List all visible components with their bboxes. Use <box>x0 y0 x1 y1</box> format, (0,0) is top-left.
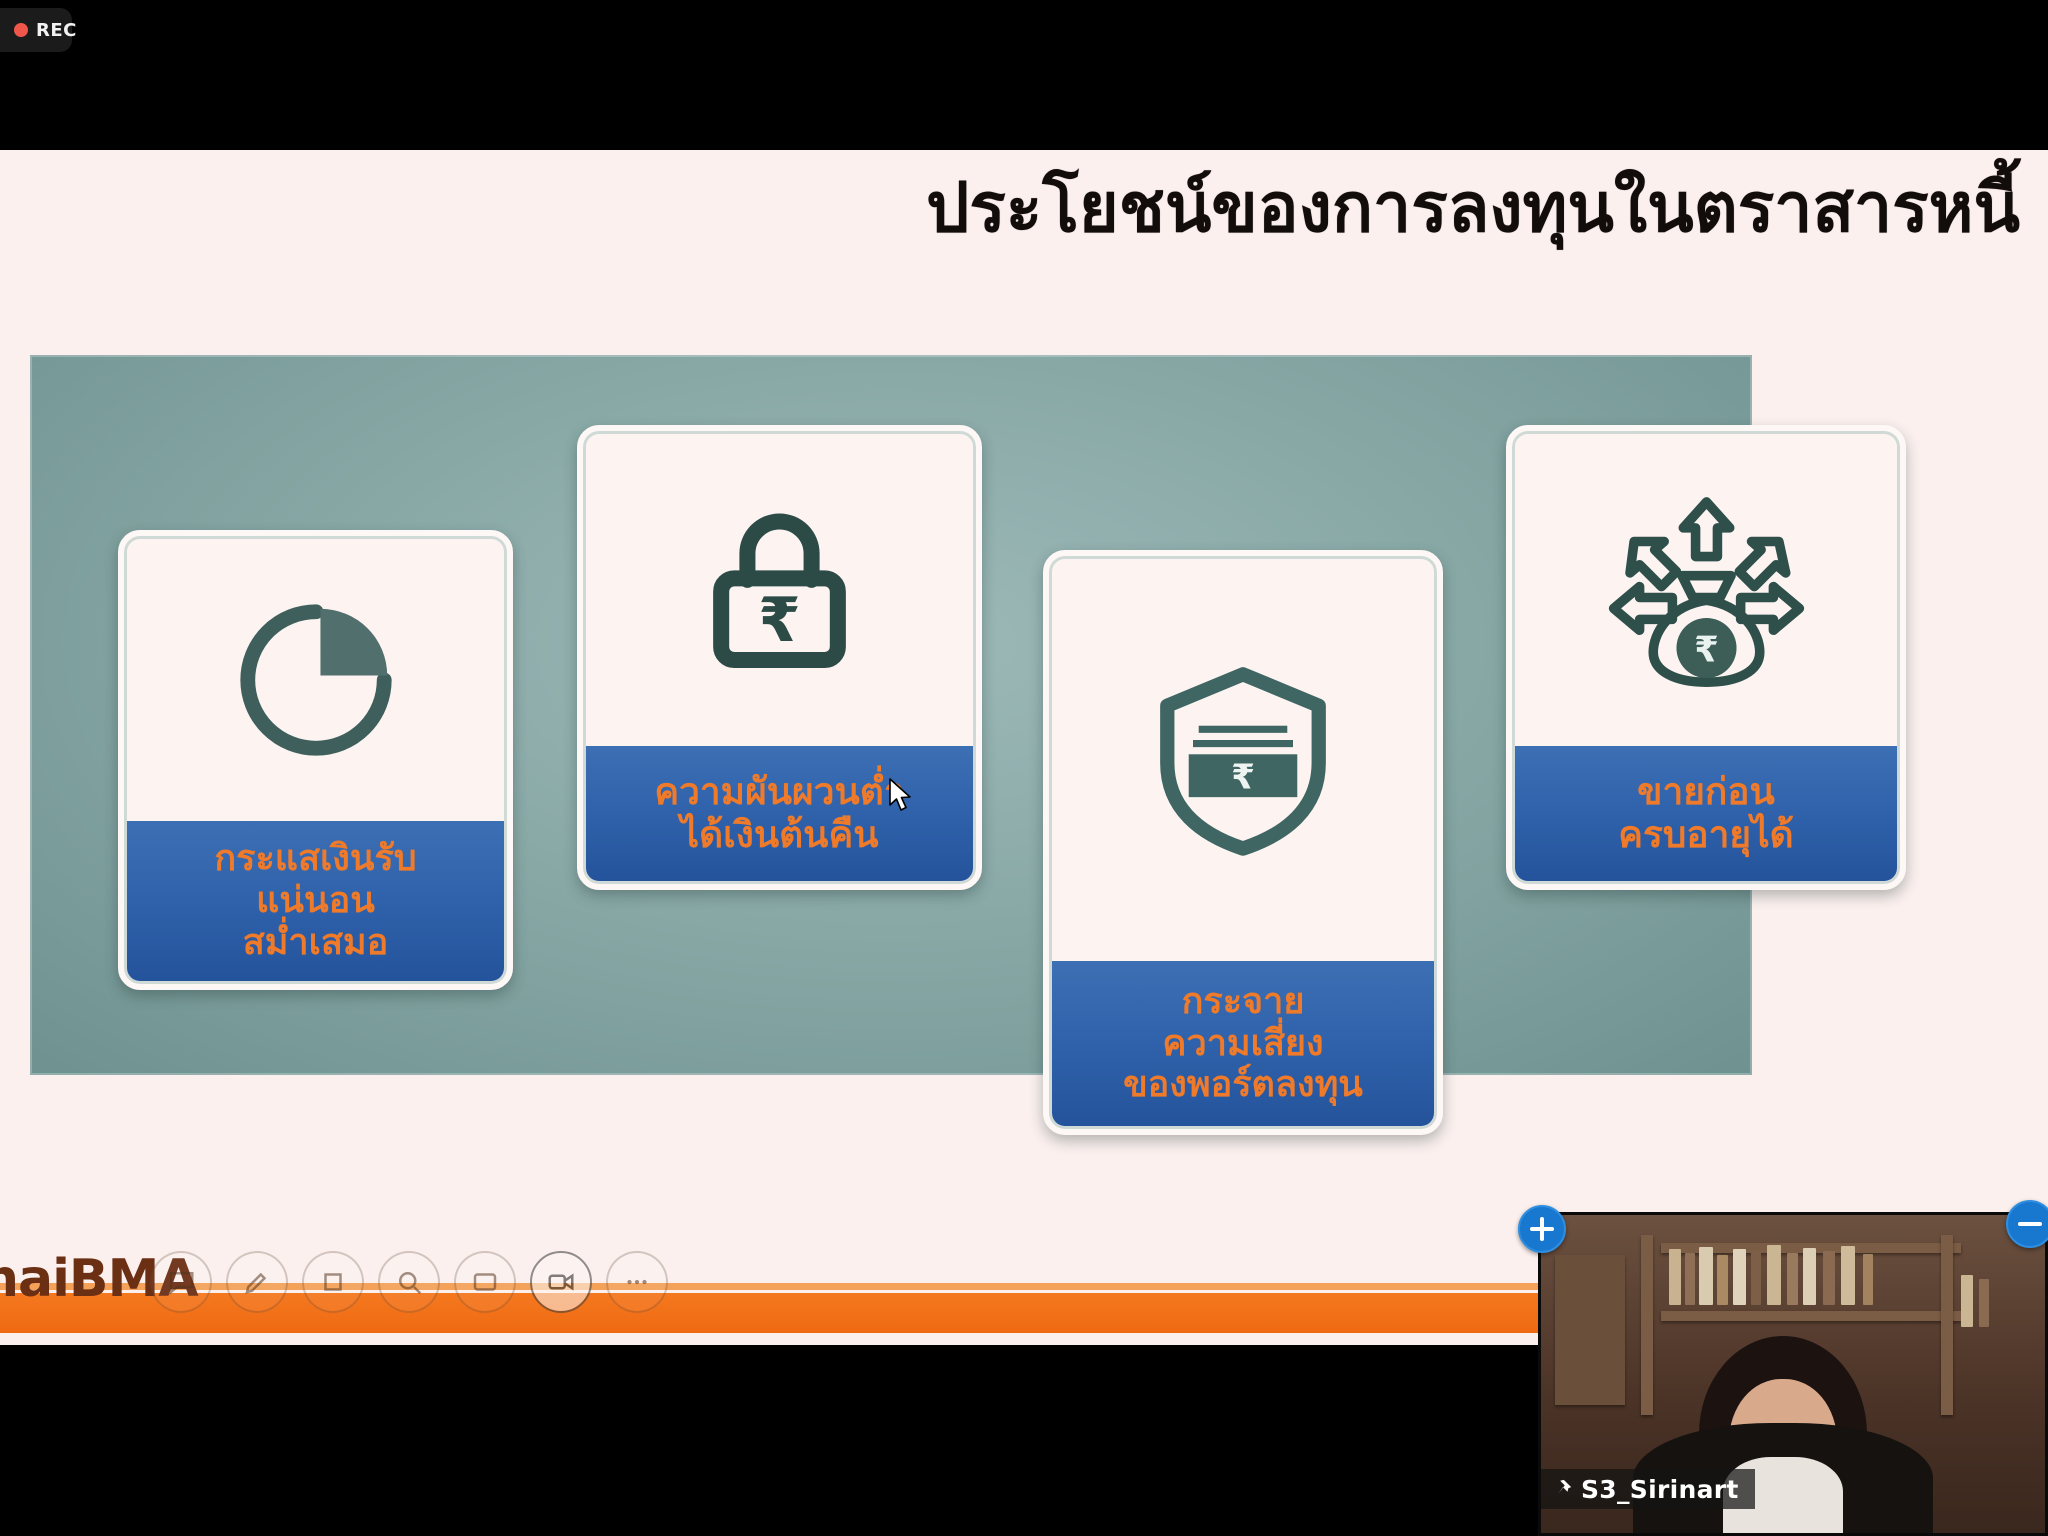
shelf <box>1661 1311 1961 1321</box>
book <box>1841 1246 1855 1305</box>
annotation-toolbar[interactable] <box>150 1251 668 1313</box>
benefit-card-low-volatility[interactable]: ₹ ความผันผวนต่ำ ได้เงินต้นคืน <box>577 425 982 890</box>
window-blind <box>1555 1255 1625 1405</box>
card-label-line: ครบอายุได้ <box>1618 814 1793 857</box>
mouse-cursor <box>888 778 914 812</box>
book <box>1787 1253 1798 1305</box>
recording-label: REC <box>36 20 77 41</box>
book <box>1717 1255 1728 1305</box>
book <box>1803 1248 1816 1305</box>
card-inner: ₹ ขายก่อน ครบอายุได้ <box>1512 431 1900 884</box>
card-label: ขายก่อน ครบอายุได้ <box>1515 746 1897 881</box>
participant-video-tile[interactable]: S3_Sirinart <box>1538 1212 2048 1536</box>
presentation-slide: ประโยชน์ของการลงทุนในตราสารหนี้ กระแสเงิ… <box>0 150 2048 1310</box>
benefit-card-diversification[interactable]: ₹ กระจาย ความเสี่ยง ของพอร์ตลงทุน <box>1043 550 1443 1135</box>
stop-icon[interactable] <box>302 1251 364 1313</box>
card-label-line: แน่นอน <box>256 880 375 922</box>
card-label: กระจาย ความเสี่ยง ของพอร์ตลงทุน <box>1052 961 1434 1126</box>
book <box>1685 1253 1695 1305</box>
book <box>1751 1251 1761 1305</box>
benefit-card-sell-before-maturity[interactable]: ₹ ขายก่อน ครบอายุได้ <box>1506 425 1906 890</box>
card-label-line: ความเสี่ยง <box>1162 1023 1323 1065</box>
zoom-in-button[interactable] <box>1518 1205 1566 1253</box>
more-icon[interactable] <box>606 1251 668 1313</box>
participant-name-chip: S3_Sirinart <box>1541 1469 1755 1509</box>
page-title: ประโยชน์ของการลงทุนในตราสารหนี้ <box>620 170 2020 248</box>
card-inner: ₹ ความผันผวนต่ำ ได้เงินต้นคืน <box>583 431 976 884</box>
recording-badge: REC <box>0 8 72 52</box>
shelf <box>1941 1235 1953 1415</box>
book <box>1733 1249 1746 1305</box>
screen-root: REC ประโยชน์ของการลงทุนในตราสารหนี้ กระแ… <box>0 0 2048 1536</box>
benefit-card-cashflow[interactable]: กระแสเงินรับ แน่นอน สม่ำเสมอ <box>118 530 513 990</box>
video-camera-icon[interactable] <box>530 1251 592 1313</box>
pen-icon[interactable] <box>226 1251 288 1313</box>
card-label-line: กระแสเงินรับ <box>214 838 416 880</box>
card-inner: ₹ กระจาย ความเสี่ยง ของพอร์ตลงทุน <box>1049 556 1437 1129</box>
shelf <box>1641 1235 1653 1415</box>
card-label-line: กระจาย <box>1182 981 1305 1023</box>
card-label-line: ความผันผวนต่ำ <box>654 771 904 814</box>
book <box>1669 1249 1681 1305</box>
svg-text:₹: ₹ <box>1231 758 1255 798</box>
search-icon[interactable] <box>378 1251 440 1313</box>
card-label: กระแสเงินรับ แน่นอน สม่ำเสมอ <box>127 821 504 981</box>
book <box>1823 1251 1835 1305</box>
svg-text:₹: ₹ <box>758 585 801 656</box>
card-label-line: ได้เงินต้นคืน <box>680 814 878 857</box>
book <box>1979 1279 1989 1327</box>
money-bag-arrows-icon: ₹ <box>1515 434 1897 746</box>
chat-icon[interactable] <box>150 1251 212 1313</box>
zoom-out-button[interactable] <box>2006 1200 2048 1248</box>
card-label-line: ของพอร์ตลงทุน <box>1123 1064 1363 1106</box>
pin-icon <box>1551 1478 1573 1500</box>
card-label-line: สม่ำเสมอ <box>243 922 389 964</box>
pie-chart-icon <box>127 539 504 821</box>
svg-text:₹: ₹ <box>1694 630 1719 671</box>
book <box>1863 1254 1873 1305</box>
book <box>1699 1247 1713 1305</box>
card-label-line: ขายก่อน <box>1637 771 1775 814</box>
card-label: ความผันผวนต่ำ ได้เงินต้นคืน <box>586 746 973 881</box>
recording-dot-icon <box>14 23 28 37</box>
book <box>1961 1275 1973 1327</box>
note-icon[interactable] <box>454 1251 516 1313</box>
shield-banknote-rupee-icon: ₹ <box>1052 559 1434 961</box>
book <box>1767 1245 1781 1305</box>
participant-name: S3_Sirinart <box>1581 1475 1739 1504</box>
padlock-rupee-icon: ₹ <box>586 434 973 746</box>
card-inner: กระแสเงินรับ แน่นอน สม่ำเสมอ <box>124 536 507 984</box>
